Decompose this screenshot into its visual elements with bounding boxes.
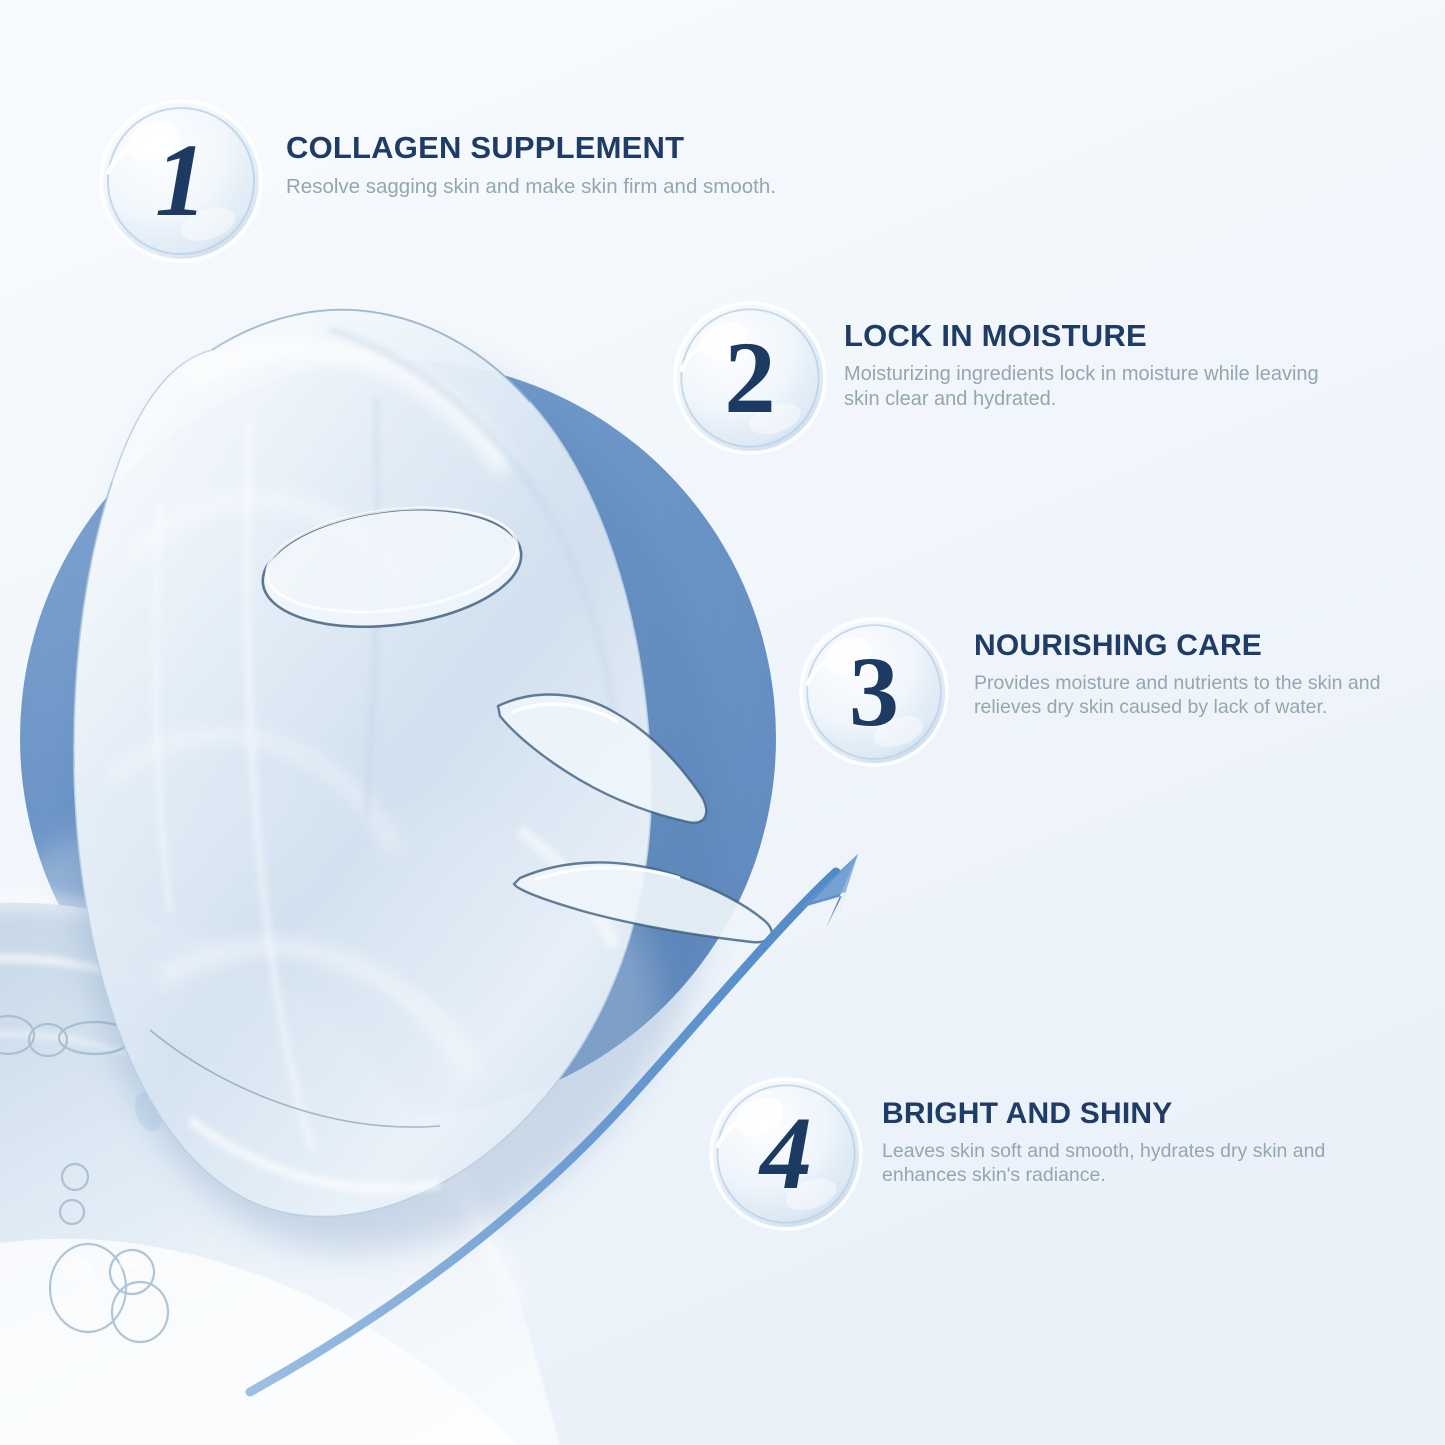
feature-description-1: Resolve sagging skin and make skin firm … bbox=[286, 174, 776, 200]
number-bubble-4: 4 bbox=[708, 1076, 864, 1232]
number-bubble-1: 1 bbox=[98, 98, 264, 264]
infographic-canvas: 1 COLLAGEN SUPPLEMENT Resolve sagging sk… bbox=[0, 0, 1445, 1445]
feature-title-4: BRIGHT AND SHINY bbox=[882, 1098, 1362, 1130]
feature-title-2: LOCK IN MOISTURE bbox=[844, 320, 1334, 353]
feature-copy-4: BRIGHT AND SHINY Leaves skin soft and sm… bbox=[882, 1076, 1362, 1188]
feature-description-3: Provides moisture and nutrients to the s… bbox=[974, 671, 1394, 721]
number-bubble-3: 3 bbox=[798, 616, 950, 768]
feature-item-4: 4 BRIGHT AND SHINY Leaves skin soft and … bbox=[708, 1076, 1362, 1232]
feature-title-3: NOURISHING CARE bbox=[974, 630, 1394, 662]
feature-item-2: 2 LOCK IN MOISTURE Moisturizing ingredie… bbox=[672, 300, 1334, 456]
feature-number-4: 4 bbox=[760, 1102, 812, 1206]
feature-description-2: Moisturizing ingredients lock in moistur… bbox=[844, 362, 1334, 413]
feature-item-3: 3 NOURISHING CARE Provides moisture and … bbox=[798, 616, 1394, 768]
feature-copy-3: NOURISHING CARE Provides moisture and nu… bbox=[974, 616, 1394, 720]
feature-number-3: 3 bbox=[849, 642, 899, 742]
feature-copy-1: COLLAGEN SUPPLEMENT Resolve sagging skin… bbox=[286, 98, 776, 200]
feature-description-4: Leaves skin soft and smooth, hydrates dr… bbox=[882, 1139, 1362, 1189]
feature-item-1: 1 COLLAGEN SUPPLEMENT Resolve sagging sk… bbox=[98, 98, 776, 264]
feature-copy-2: LOCK IN MOISTURE Moisturizing ingredient… bbox=[844, 300, 1334, 413]
feature-number-2: 2 bbox=[724, 327, 776, 430]
feature-title-1: COLLAGEN SUPPLEMENT bbox=[286, 132, 776, 165]
number-bubble-2: 2 bbox=[672, 300, 828, 456]
feature-number-1: 1 bbox=[155, 129, 207, 233]
